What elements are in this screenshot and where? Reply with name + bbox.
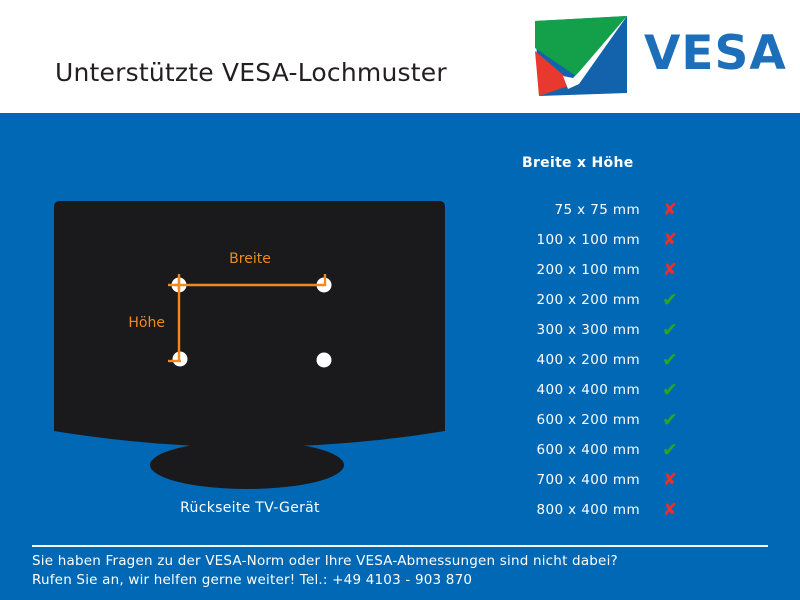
- header-bar: Unterstützte VESA-Lochmuster VESA: [0, 0, 800, 113]
- pattern-size-label: 800 x 400 mm: [500, 502, 640, 518]
- mount-hole-bottom-right-icon: [317, 353, 332, 368]
- tv-caption: Rückseite TV-Gerät: [40, 500, 460, 516]
- height-label: Höhe: [128, 315, 165, 331]
- footer-divider: [32, 545, 768, 547]
- pattern-size-label: 400 x 200 mm: [500, 352, 640, 368]
- pattern-size-label: 100 x 100 mm: [500, 232, 640, 248]
- pattern-size-label: 600 x 200 mm: [500, 412, 640, 428]
- table-row: 200 x 100 mm✘: [500, 255, 740, 285]
- tv-panel-icon: [54, 201, 445, 447]
- unsupported-cross-icon: ✘: [640, 262, 700, 279]
- unsupported-cross-icon: ✘: [640, 232, 700, 249]
- pattern-size-label: 700 x 400 mm: [500, 472, 640, 488]
- table-row: 600 x 400 mm✔: [500, 435, 740, 465]
- supported-check-icon: ✔: [640, 411, 700, 430]
- table-row: 200 x 200 mm✔: [500, 285, 740, 315]
- table-row: 400 x 200 mm✔: [500, 345, 740, 375]
- table-row: 700 x 400 mm✘: [500, 465, 740, 495]
- unsupported-cross-icon: ✘: [640, 472, 700, 489]
- footer-contact: Sie haben Fragen zu der VESA-Norm oder I…: [32, 552, 772, 590]
- table-row: 600 x 200 mm✔: [500, 405, 740, 435]
- supported-check-icon: ✔: [640, 381, 700, 400]
- footer-line-1: Sie haben Fragen zu der VESA-Norm oder I…: [32, 552, 772, 571]
- unsupported-cross-icon: ✘: [640, 502, 700, 519]
- unsupported-cross-icon: ✘: [640, 202, 700, 219]
- pattern-size-label: 300 x 300 mm: [500, 322, 640, 338]
- table-header: Breite x Höhe: [500, 155, 740, 171]
- pattern-size-label: 75 x 75 mm: [500, 202, 640, 218]
- table-row: 400 x 400 mm✔: [500, 375, 740, 405]
- table-row: 300 x 300 mm✔: [500, 315, 740, 345]
- table-row: 75 x 75 mm✘: [500, 195, 740, 225]
- supported-check-icon: ✔: [640, 321, 700, 340]
- tv-diagram: Breite Höhe: [40, 190, 460, 490]
- supported-check-icon: ✔: [640, 351, 700, 370]
- table-body: 75 x 75 mm✘100 x 100 mm✘200 x 100 mm✘200…: [500, 195, 740, 525]
- page-title: Unterstützte VESA-Lochmuster: [55, 58, 447, 87]
- vesa-logo: VESA: [532, 16, 782, 98]
- width-label: Breite: [229, 251, 271, 267]
- pattern-size-label: 200 x 100 mm: [500, 262, 640, 278]
- table-row: 100 x 100 mm✘: [500, 225, 740, 255]
- vesa-wordmark: VESA: [644, 30, 787, 77]
- supported-check-icon: ✔: [640, 441, 700, 460]
- pattern-size-label: 200 x 200 mm: [500, 292, 640, 308]
- footer-line-2: Rufen Sie an, wir helfen gerne weiter! T…: [32, 571, 772, 590]
- vesa-pattern-table: Breite x Höhe 75 x 75 mm✘100 x 100 mm✘20…: [500, 155, 740, 525]
- table-row: 800 x 400 mm✘: [500, 495, 740, 525]
- vesa-logo-mark-icon: [532, 16, 630, 98]
- pattern-size-label: 400 x 400 mm: [500, 382, 640, 398]
- supported-check-icon: ✔: [640, 291, 700, 310]
- pattern-size-label: 600 x 400 mm: [500, 442, 640, 458]
- tv-diagram-svg: Breite Höhe: [40, 190, 460, 490]
- infographic-root: Unterstützte VESA-Lochmuster VESA: [0, 0, 800, 600]
